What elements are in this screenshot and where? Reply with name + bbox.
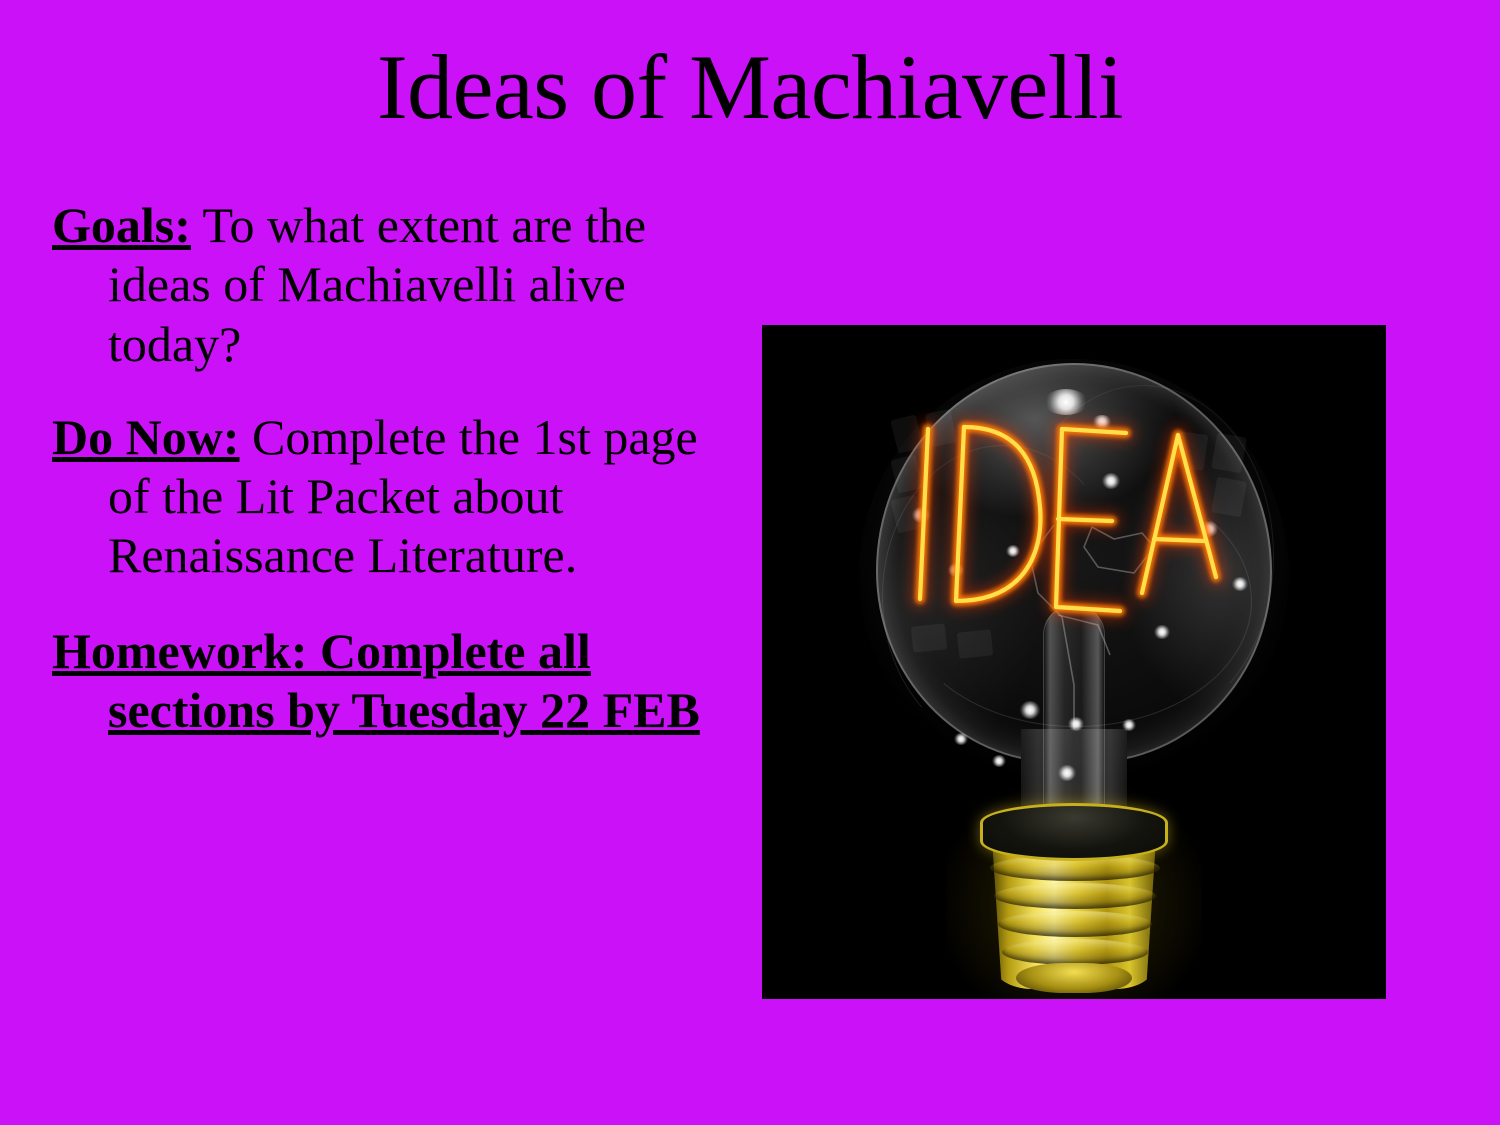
slide-body-text: Goals: To what extent are the ideas of M…	[52, 196, 717, 740]
paragraph-lead-homework: Homework: Complete all sections by Tuesd…	[52, 623, 700, 738]
glass-specular-highlight	[1068, 717, 1084, 731]
glass-specular-highlight	[1020, 701, 1040, 719]
glass-specular-highlight	[1044, 389, 1088, 415]
glass-specular-highlight	[1154, 625, 1170, 639]
neon-letter-A	[1142, 435, 1216, 593]
lightbulb-illustration	[762, 325, 1386, 999]
neon-letter-I	[920, 429, 928, 599]
base-thread-ring	[994, 883, 1156, 909]
slide-title: Ideas of Machiavelli	[0, 38, 1500, 137]
presentation-slide: Ideas of Machiavelli Goals: To what exte…	[0, 0, 1500, 1125]
idea-neon-svg	[904, 415, 1244, 615]
paragraph-lead-goals: Goals:	[52, 197, 191, 253]
base-collar-rim	[980, 803, 1168, 861]
base-thread-ring	[1002, 939, 1148, 965]
base-contact-tip	[1016, 963, 1132, 993]
lightbulb-idea-image	[762, 325, 1386, 999]
glass-specular-highlight	[992, 755, 1006, 767]
base-thread-ring	[998, 911, 1152, 937]
bulb-screw-base	[976, 803, 1172, 989]
body-paragraph-homework: Homework: Complete all sections by Tuesd…	[52, 622, 717, 741]
paragraph-lead-do-now: Do Now:	[52, 409, 239, 465]
neon-letter-E	[1056, 429, 1126, 611]
body-paragraph-goals: Goals: To what extent are the ideas of M…	[52, 196, 717, 374]
body-paragraph-do-now: Do Now: Complete the 1st page of the Lit…	[52, 408, 717, 586]
glass-specular-highlight	[1058, 765, 1076, 781]
glass-specular-highlight	[1122, 719, 1136, 731]
idea-filament-text	[904, 415, 1244, 615]
neon-letter-D	[956, 427, 1040, 601]
glass-specular-highlight	[954, 733, 968, 745]
